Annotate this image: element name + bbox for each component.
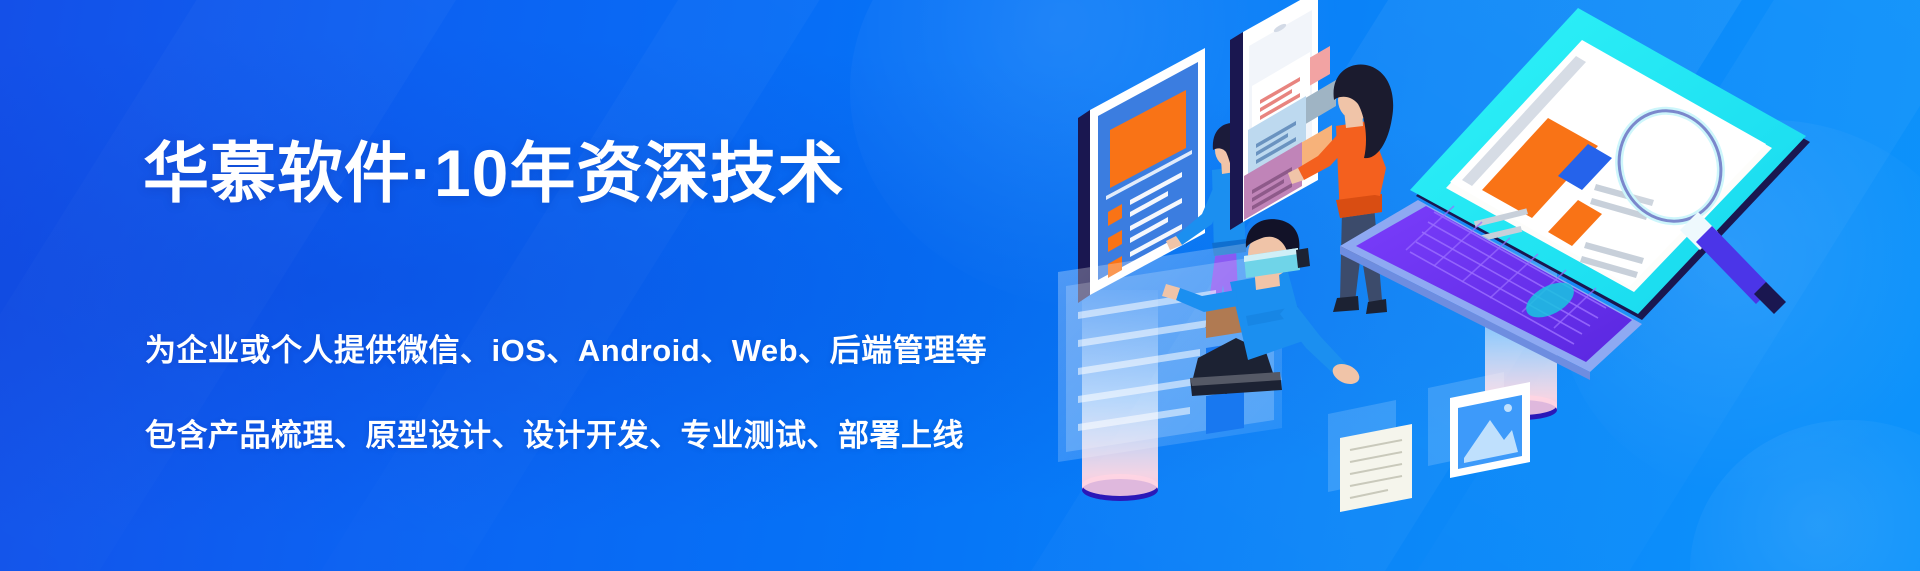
hero-illustration xyxy=(1030,0,1920,571)
hero-banner: 华慕软件·10年资深技术 为企业或个人提供微信、iOS、Android、Web、… xyxy=(0,0,1920,571)
banner-subline-2: 包含产品梳理、原型设计、设计开发、专业测试、部署上线 xyxy=(145,410,964,455)
glow-band xyxy=(0,0,608,571)
banner-subline-1: 为企业或个人提供微信、iOS、Android、Web、后端管理等 xyxy=(145,325,987,370)
laptop xyxy=(1340,8,1810,380)
glow-band xyxy=(211,0,949,571)
floating-card-image xyxy=(1428,372,1530,478)
banner-headline: 华慕软件·10年资深技术 xyxy=(143,140,844,206)
floating-card-text xyxy=(1328,400,1412,512)
